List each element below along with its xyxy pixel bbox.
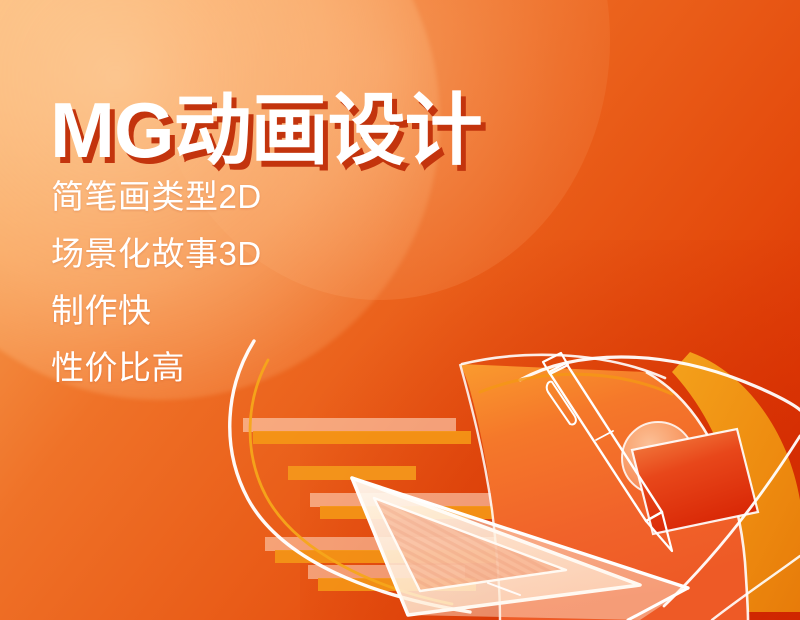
feature-item: 制作快 [51, 294, 262, 327]
feature-item: 性价比高 [51, 351, 262, 384]
promo-banner: MG动画设计 简笔画类型2D 场景化故事3D 制作快 性价比高 [0, 0, 800, 620]
feature-item: 场景化故事3D [51, 237, 262, 270]
page-title: MG动画设计 [50, 90, 482, 172]
background-corner-shade [300, 240, 800, 620]
feature-item: 简笔画类型2D [51, 180, 262, 213]
feature-list: 简笔画类型2D 场景化故事3D 制作快 性价比高 [51, 180, 262, 408]
